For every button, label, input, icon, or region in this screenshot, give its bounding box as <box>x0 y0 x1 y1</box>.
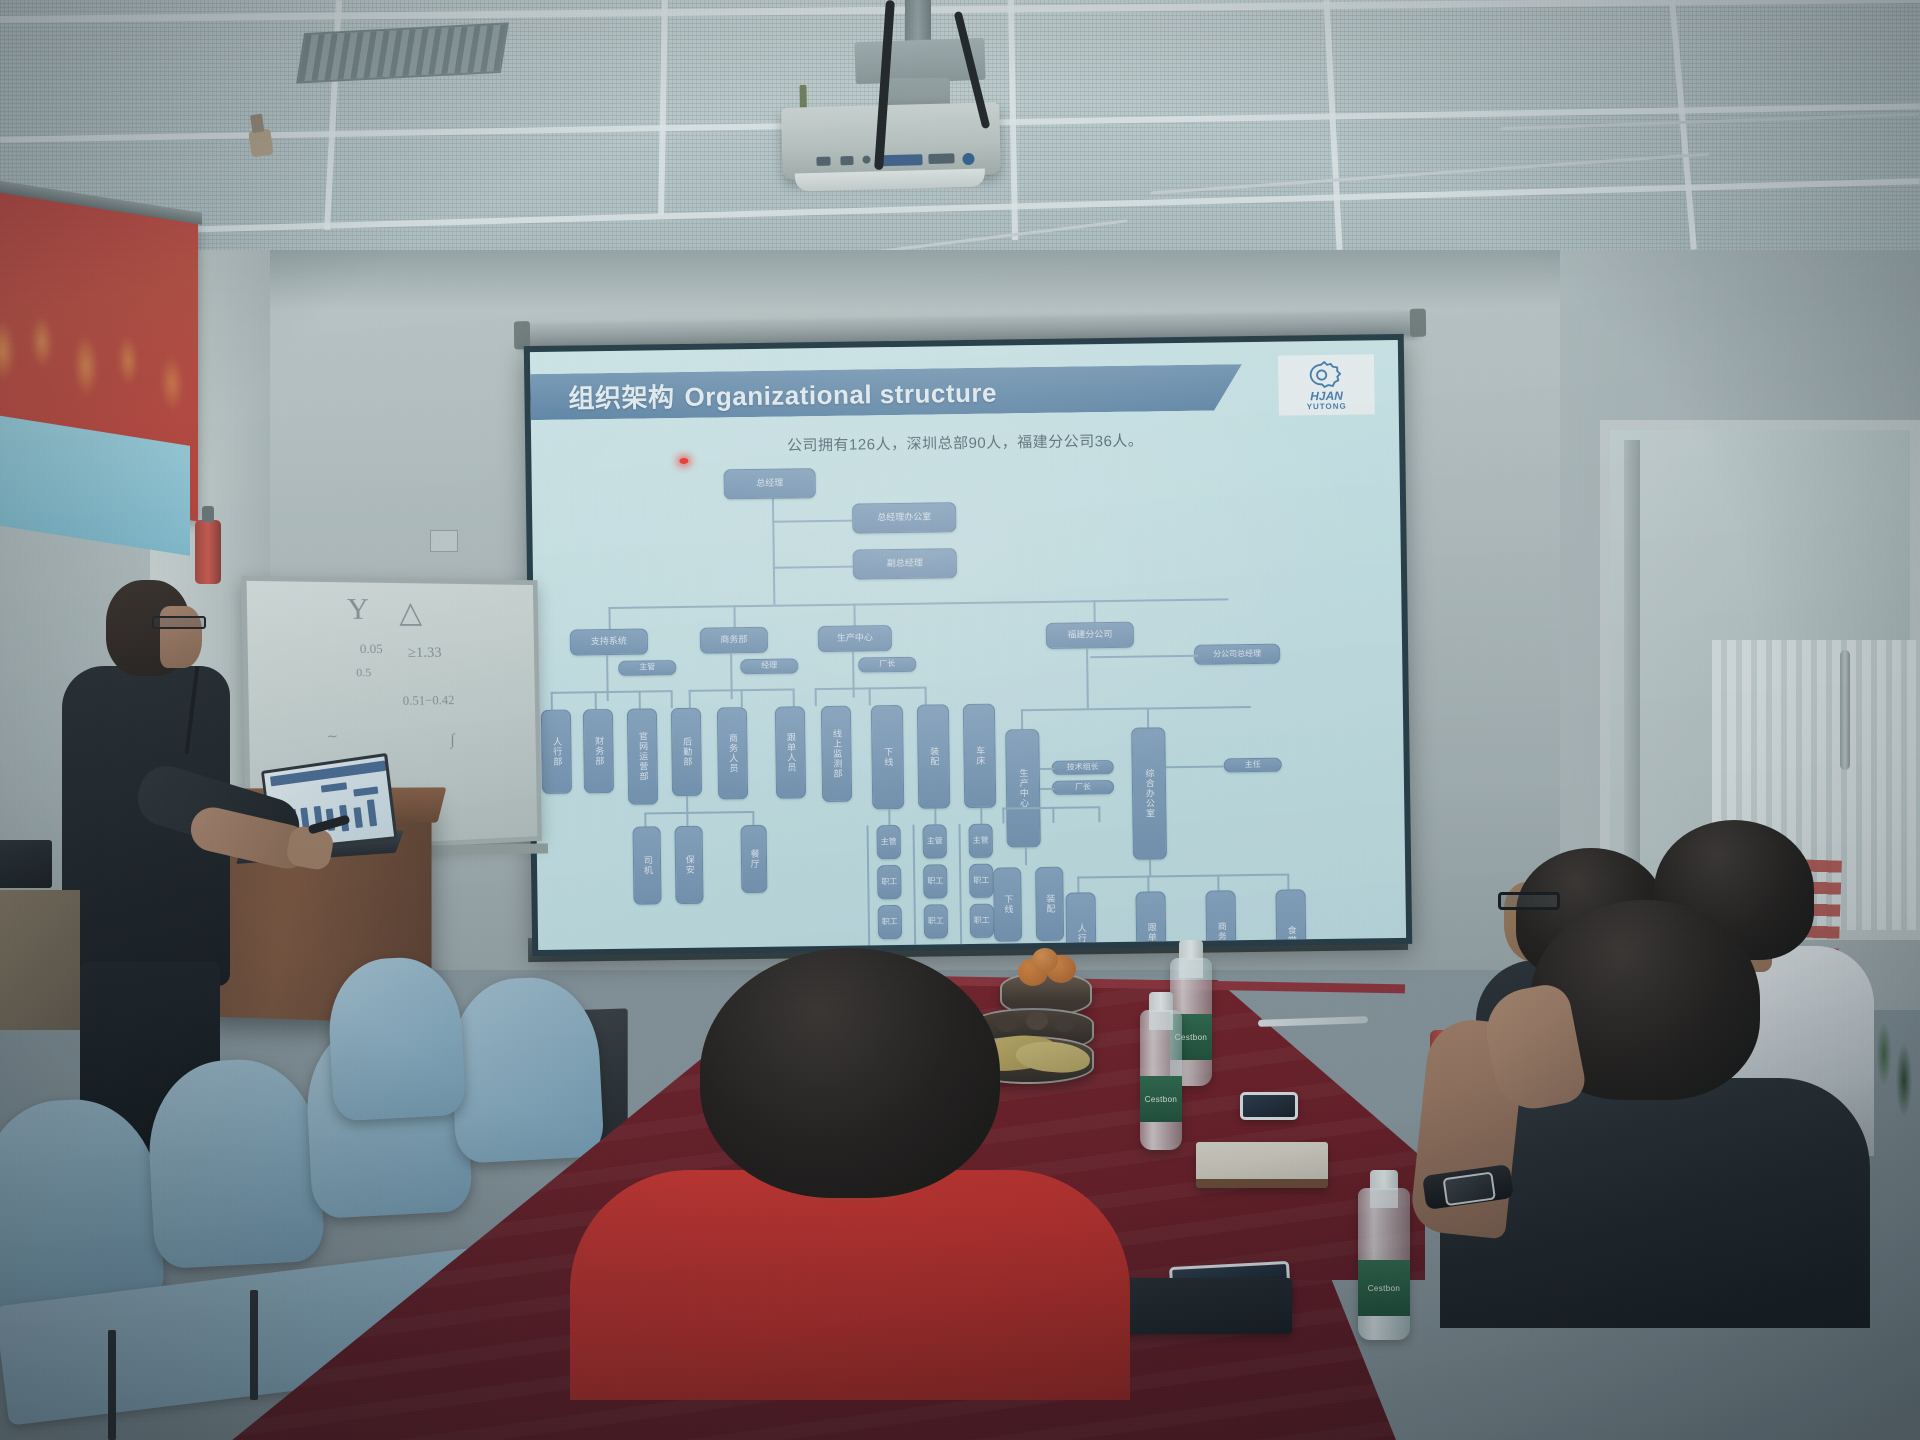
org-node: 职工 <box>878 945 902 950</box>
bottle-neck <box>1179 958 1203 978</box>
banner-flame-pattern <box>0 257 198 443</box>
logo-name: HJAN <box>1310 389 1343 401</box>
org-node: 下线 <box>871 705 904 809</box>
attendee-hair <box>700 948 1000 1198</box>
water-bottle: Cestbon <box>1140 1010 1182 1150</box>
water-bottle: Cestbon <box>1358 1188 1410 1340</box>
org-node: 职工 <box>970 904 994 938</box>
smartphone <box>1240 1092 1298 1120</box>
ceiling-projector <box>781 102 1001 180</box>
whiteboard-note: 0.51−0.42 <box>403 692 455 709</box>
org-node: 商务人员 <box>717 707 748 799</box>
org-node: 餐厅 <box>740 825 767 893</box>
slide-title: 组织架构Organizational structure <box>568 372 997 415</box>
org-node: 人行部 <box>541 710 572 794</box>
slide-header-band: 组织架构Organizational structure <box>530 364 1242 420</box>
org-node: 生产中心 <box>1005 729 1041 847</box>
org-node: 主管 <box>968 824 992 858</box>
meeting-room-scene: 组织架构Organizational structure HJAN YUTONG… <box>0 0 1920 1440</box>
org-node: 车床 <box>963 704 996 808</box>
projection-screen: 组织架构Organizational structure HJAN YUTONG… <box>524 334 1412 956</box>
org-role-tag: 主管 <box>618 660 676 676</box>
bottle-neck <box>1370 1188 1398 1208</box>
logo-subname: YUTONG <box>1307 401 1347 411</box>
org-role-tag: 厂长 <box>858 657 916 673</box>
chair <box>447 974 604 1163</box>
org-node: 后勤部 <box>671 708 702 796</box>
gear-logo-icon <box>1303 359 1349 390</box>
door-handle <box>1840 650 1850 770</box>
org-node: 装配 <box>917 704 950 808</box>
folder <box>1122 1278 1292 1334</box>
side-cabinet <box>0 890 80 1030</box>
org-node-root: 总经理 <box>724 468 816 499</box>
sprinkler-head-icon <box>248 129 273 158</box>
slide-title-cn: 组织架构 <box>568 382 674 413</box>
bottle-label: Cestbon <box>1140 1076 1182 1122</box>
org-node: 保安 <box>675 826 704 904</box>
bottle-neck <box>1149 1010 1173 1030</box>
whiteboard-sketch: △ <box>399 595 422 630</box>
whiteboard-note: ≥1.33 <box>408 645 442 662</box>
chair <box>326 955 466 1122</box>
glasses-icon <box>152 616 206 629</box>
org-node: 福建分公司 <box>1046 622 1134 649</box>
org-node: 主管 <box>923 824 947 858</box>
org-node: 职工 <box>969 864 993 898</box>
bottle-label: Cestbon <box>1358 1260 1410 1316</box>
whiteboard-note: 0.5 <box>356 665 371 680</box>
org-role-tag: 厂长 <box>1052 780 1114 795</box>
org-node: 职工 <box>970 944 994 950</box>
org-node: 分公司总经理 <box>1194 644 1280 665</box>
whiteboard-note: ∼ <box>327 728 338 745</box>
org-node: 副总经理 <box>853 548 957 579</box>
whiteboard-note: ∫ <box>450 732 455 750</box>
bottle-cap <box>1179 940 1203 960</box>
chair <box>145 1056 325 1270</box>
org-node: 财务部 <box>583 709 614 793</box>
org-node: 支持系统 <box>570 628 648 655</box>
org-node: 跟单人员 <box>775 706 806 798</box>
notebook <box>1196 1142 1328 1188</box>
pen <box>1258 1016 1368 1027</box>
org-role-tag: 主任 <box>1224 758 1282 773</box>
org-node: 职工 <box>924 904 948 938</box>
whiteboard-sketch: Y <box>347 592 370 626</box>
chair-leg <box>250 1290 258 1400</box>
org-node: 下线 <box>993 867 1022 941</box>
org-node: 职工 <box>923 864 947 898</box>
org-node: 线上监测部 <box>821 706 852 802</box>
org-node: 人行部 <box>1065 892 1096 950</box>
org-node: 职工 <box>924 944 948 950</box>
org-node: 跟单组 <box>1135 891 1166 950</box>
av-equipment-box <box>0 840 52 888</box>
chair <box>0 1095 166 1319</box>
org-node: 司机 <box>633 826 662 904</box>
org-node: 职工 <box>877 865 901 899</box>
bottle-cap <box>1149 992 1173 1012</box>
slide-title-en: Organizational structure <box>684 377 997 411</box>
attendee-torso <box>570 1170 1130 1400</box>
org-node: 主管 <box>877 825 901 859</box>
org-node: 食堂 <box>1275 889 1306 950</box>
org-node: 总经理办公室 <box>852 502 956 533</box>
glasses-icon <box>1498 892 1560 910</box>
chair-leg <box>108 1330 116 1440</box>
org-chart: 总经理 总经理办公室 副总经理 支持系统 商务部 生产中心 福建分公司 分公司总… <box>531 450 1406 950</box>
wall-switch-plate <box>430 530 458 552</box>
presenter <box>40 570 260 1130</box>
org-node: 商务部 <box>700 627 768 654</box>
presentation-slide: 组织架构Organizational structure HJAN YUTONG… <box>530 340 1406 950</box>
projector-ports <box>782 152 1000 171</box>
org-node: 生产中心 <box>818 625 892 652</box>
org-role-tag: 技术组长 <box>1052 760 1114 775</box>
org-node: 职工 <box>878 905 902 939</box>
org-node: 综合办公室 <box>1131 727 1167 859</box>
bottle-cap <box>1370 1170 1398 1190</box>
org-node: 装配 <box>1035 867 1064 941</box>
org-node: 商务部 <box>1205 890 1236 950</box>
company-logo: HJAN YUTONG <box>1278 354 1375 415</box>
org-node: 官网运营部 <box>627 708 658 804</box>
org-role-tag: 经理 <box>740 658 798 674</box>
whiteboard-note: 0.05 <box>360 641 383 657</box>
